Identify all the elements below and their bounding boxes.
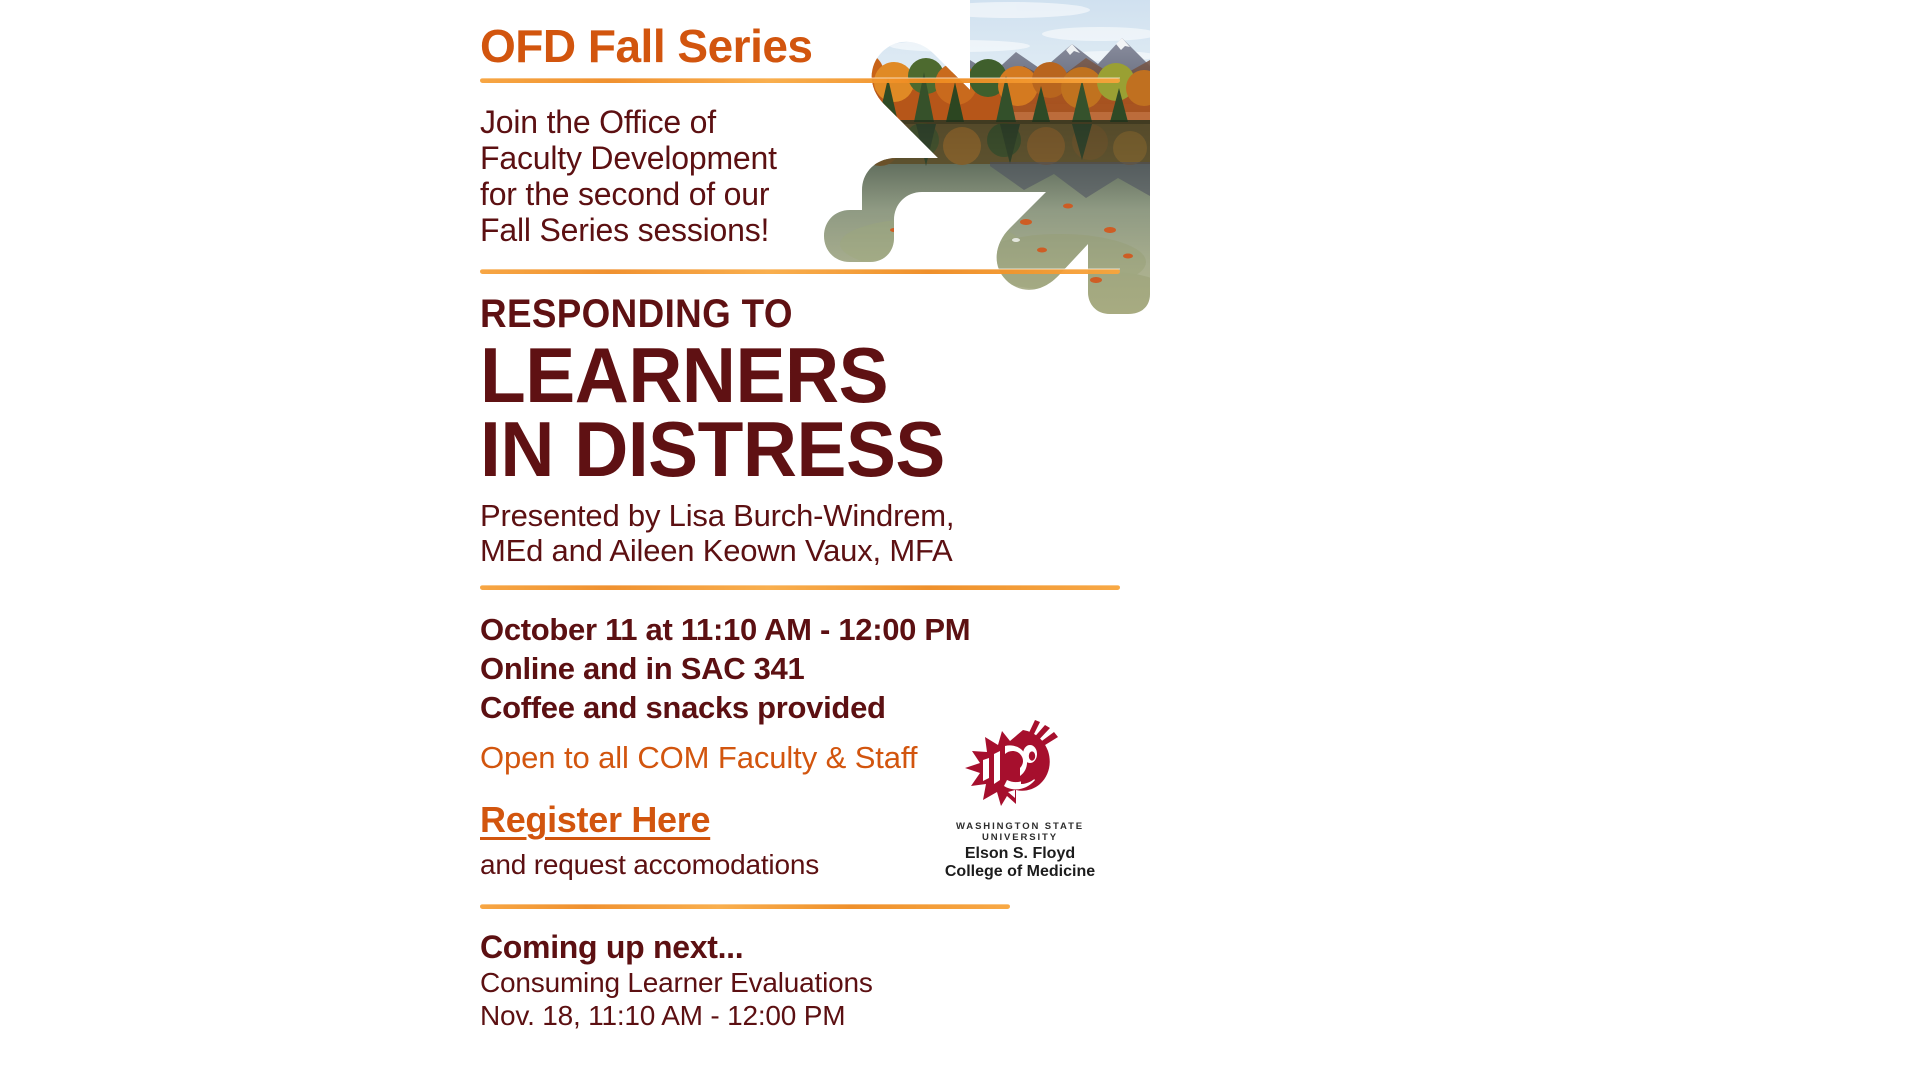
- divider-rule-4: [480, 904, 1010, 909]
- logo-university-name: WASHINGTON STATE UNIVERSITY: [920, 821, 1120, 843]
- title-line-2: LEARNERS IN DISTRESS: [480, 338, 1094, 486]
- flyer-artboard: OFD Fall Series Join the Office of Facul…: [380, 0, 1540, 1080]
- logo-school-name-2: College of Medicine: [920, 863, 1120, 881]
- wsu-cougar-head-icon: [961, 718, 1079, 818]
- presenter-names: Presented by Lisa Burch-Windrem, MEd and…: [480, 498, 1120, 569]
- logo-school-name-1: Elson S. Floyd: [920, 845, 1120, 863]
- event-details: October 11 at 11:10 AM - 12:00 PM Online…: [480, 610, 1120, 727]
- wsu-college-of-medicine-logo: WASHINGTON STATE UNIVERSITY Elson S. Flo…: [920, 718, 1120, 878]
- poster-canvas: OFD Fall Series Join the Office of Facul…: [0, 0, 1920, 1080]
- kicker-heading: OFD Fall Series: [480, 0, 1120, 70]
- intro-paragraph: Join the Office of Faculty Development f…: [480, 105, 1120, 248]
- coming-up-body: Consuming Learner Evaluations Nov. 18, 1…: [480, 967, 1120, 1032]
- divider-rule-3: [480, 585, 1120, 590]
- divider-rule-1: [480, 78, 1120, 83]
- register-link[interactable]: Register Here: [480, 800, 710, 840]
- divider-rule-2: [480, 269, 1120, 274]
- coming-up-heading: Coming up next...: [480, 929, 1120, 966]
- flyer-content: OFD Fall Series Join the Office of Facul…: [480, 0, 1120, 1080]
- title-line-1: RESPONDING TO: [480, 294, 1069, 334]
